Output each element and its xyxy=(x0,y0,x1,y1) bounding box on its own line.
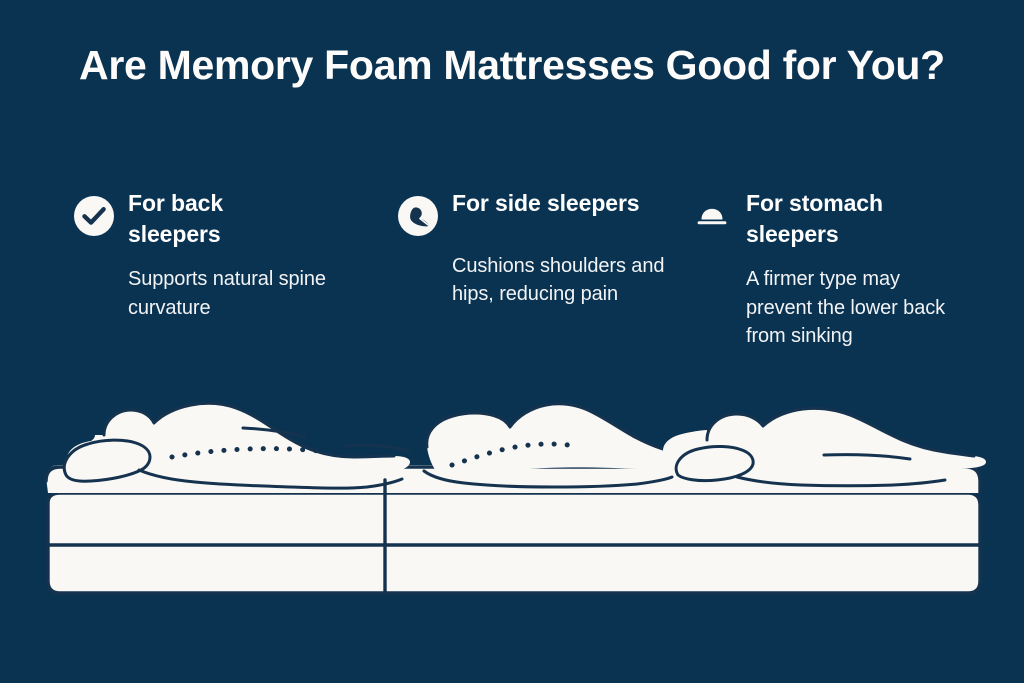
benefit-columns: For back sleepers Supports natural spine… xyxy=(0,188,1024,378)
benefit-title-stomach: For stomach sleepers xyxy=(746,188,936,249)
infographic-canvas: Are Memory Foam Mattresses Good for You?… xyxy=(0,0,1024,683)
benefit-header-back: For back sleepers xyxy=(74,188,354,249)
mattress-base xyxy=(48,493,980,593)
benefit-column-side-sleepers: For side sleepers Cushions shoulders and… xyxy=(398,188,698,309)
check-circle-icon xyxy=(74,196,114,236)
benefit-column-stomach-sleepers: For stomach sleepers A firmer type may p… xyxy=(692,188,982,350)
side-sleeper-circle-icon xyxy=(398,196,438,236)
benefit-title-side: For side sleepers xyxy=(452,188,640,219)
benefit-body-stomach: A firmer type may prevent the lower back… xyxy=(746,265,971,350)
stomach-sleeper-dome-icon xyxy=(692,196,732,236)
benefit-body-side: Cushions shoulders and hips, reducing pa… xyxy=(452,252,692,309)
mattress-illustration: .pap { fill: #faf8f4; } .ink { fill: non… xyxy=(0,385,1024,615)
benefit-header-stomach: For stomach sleepers xyxy=(692,188,982,249)
benefit-body-back: Supports natural spine curvature xyxy=(128,265,343,322)
benefit-title-back: For back sleepers xyxy=(128,188,318,249)
benefit-column-back-sleepers: For back sleepers Supports natural spine… xyxy=(74,188,354,322)
benefit-header-side: For side sleepers xyxy=(398,188,698,236)
page-title: Are Memory Foam Mattresses Good for You? xyxy=(62,40,962,90)
sleeper-back xyxy=(64,403,410,488)
